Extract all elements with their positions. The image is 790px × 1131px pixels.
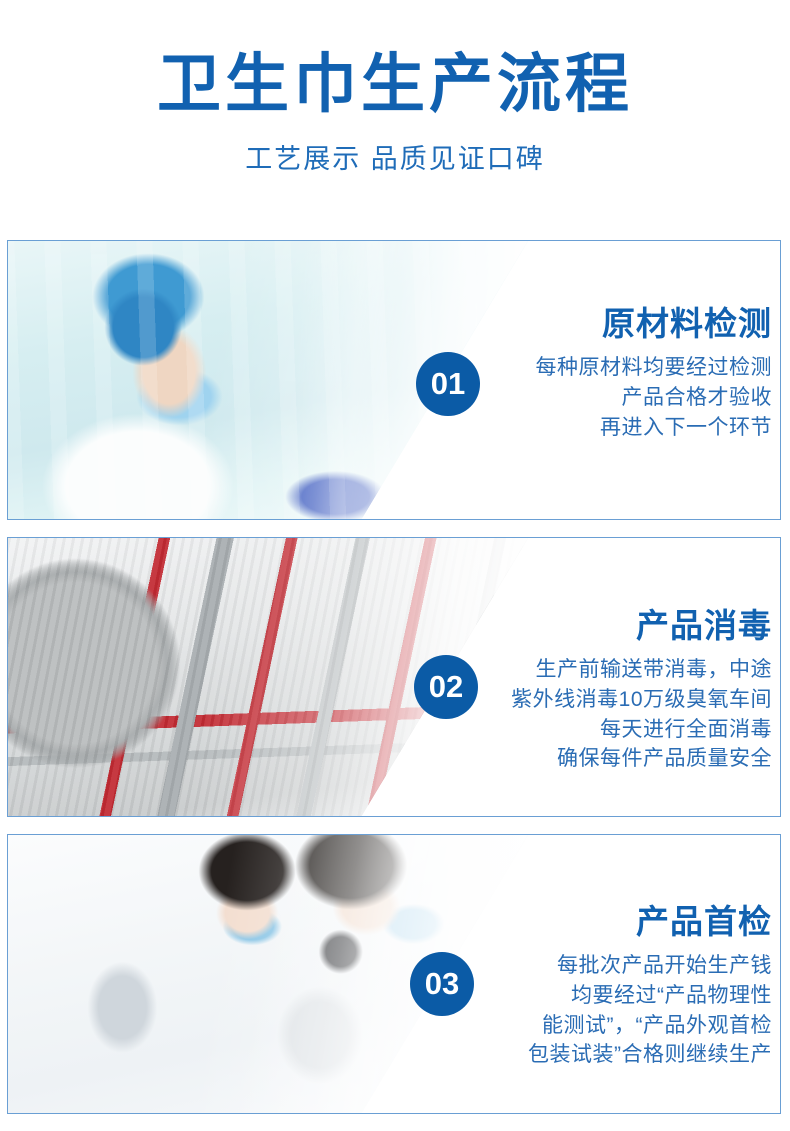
step-description-line: 每种原材料均要经过检测 bbox=[536, 353, 773, 383]
step-description-03: 每批次产品开始生产钱 均要经过“产品物理性 能测试”，“产品外观首检 包装试装”… bbox=[528, 951, 772, 1070]
step-description-line: 生产前输送带消毒，中途 bbox=[511, 655, 772, 685]
step-title-03: 产品首检 bbox=[528, 903, 772, 941]
page-header: 卫生巾生产流程 工艺展示 品质见证口碑 bbox=[0, 0, 790, 176]
step-description-line: 每批次产品开始生产钱 bbox=[528, 951, 772, 981]
step-number-badge-03: 03 bbox=[410, 952, 474, 1016]
step-text-block-03: 产品首检 每批次产品开始生产钱 均要经过“产品物理性 能测试”，“产品外观首检 … bbox=[528, 903, 772, 1070]
step-description-line: 包装试装”合格则继续生产 bbox=[528, 1040, 772, 1070]
step-text-block-02: 产品消毒 生产前输送带消毒，中途 紫外线消毒10万级臭氧车间 每天进行全面消毒 … bbox=[511, 607, 772, 774]
step-description-line: 每天进行全面消毒 bbox=[511, 715, 772, 745]
step-description-line: 紫外线消毒10万级臭氧车间 bbox=[511, 685, 772, 715]
step-description-line: 再进入下一个环节 bbox=[536, 413, 773, 443]
step-number-badge-01: 01 bbox=[416, 352, 480, 416]
step-number-badge-02: 02 bbox=[414, 655, 478, 719]
page-title: 卫生巾生产流程 bbox=[0, 52, 790, 117]
step-description-line: 确保每件产品质量安全 bbox=[511, 744, 772, 774]
step-description-02: 生产前输送带消毒，中途 紫外线消毒10万级臭氧车间 每天进行全面消毒 确保每件产… bbox=[511, 655, 772, 774]
step-description-line: 均要经过“产品物理性 bbox=[528, 981, 772, 1011]
page-subtitle: 工艺展示 品质见证口碑 bbox=[0, 137, 790, 176]
step-description-line: 能测试”，“产品外观首检 bbox=[528, 1011, 772, 1041]
step-text-block-01: 原材料检测 每种原材料均要经过检测 产品合格才验收 再进入下一个环节 bbox=[536, 305, 773, 442]
step-title-02: 产品消毒 bbox=[511, 607, 772, 645]
step-title-01: 原材料检测 bbox=[536, 305, 773, 343]
step-description-01: 每种原材料均要经过检测 产品合格才验收 再进入下一个环节 bbox=[536, 353, 773, 442]
step-description-line: 产品合格才验收 bbox=[536, 383, 773, 413]
